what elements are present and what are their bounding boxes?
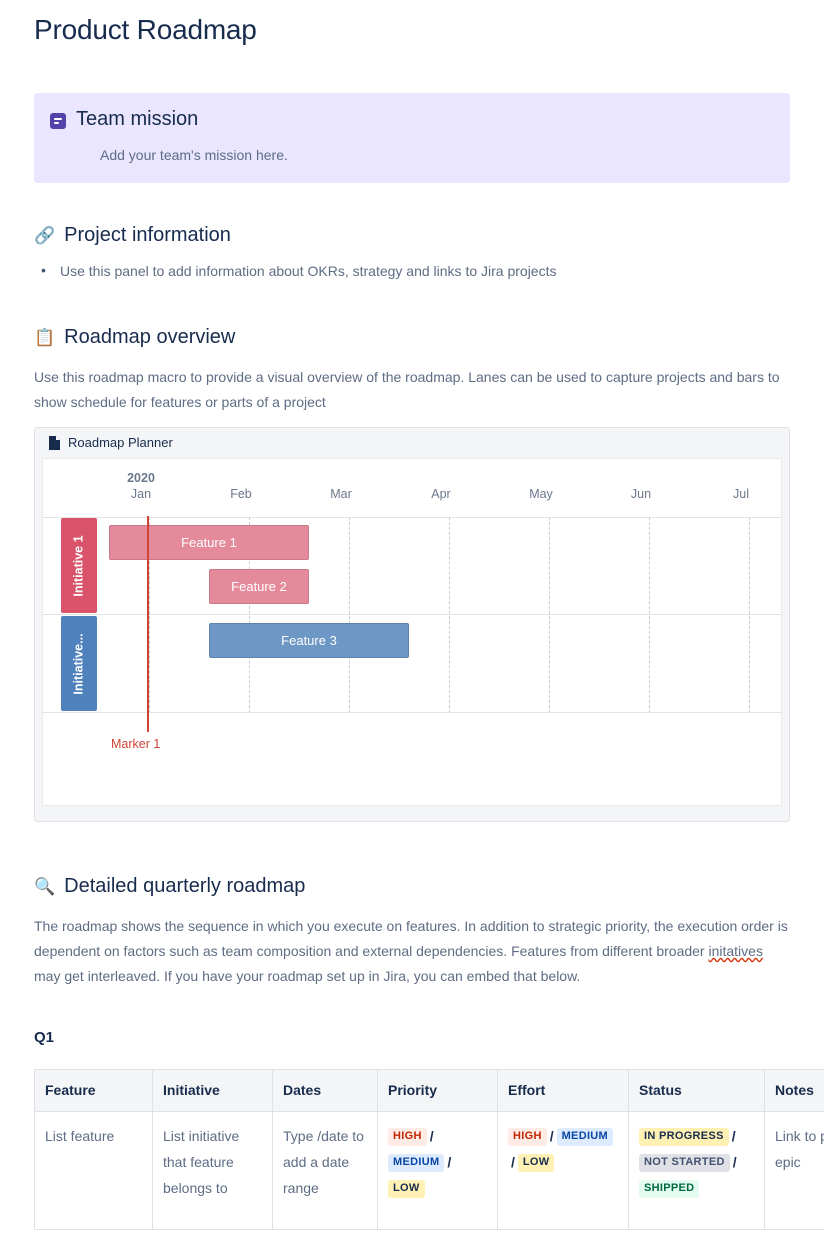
table-header-initiative: Initiative (153, 1070, 273, 1112)
roadmap-overview-heading: 📋 Roadmap overview (34, 325, 790, 349)
badge-separator: / (730, 1154, 740, 1170)
roadmap-bar-label: Feature 3 (281, 633, 337, 648)
table-header-dates: Dates (273, 1070, 378, 1112)
note-icon (50, 113, 66, 129)
badge-separator: / (729, 1128, 739, 1144)
roadmap-table: FeatureInitiativeDatesPriorityEffortStat… (34, 1069, 824, 1230)
timeline-month-may: May (501, 487, 581, 502)
magnifier-icon: 🔍 (34, 878, 55, 895)
cell-dates[interactable]: Type /date to add a date range (273, 1112, 378, 1230)
page-icon (49, 436, 60, 450)
page-title: Product Roadmap (34, 0, 790, 46)
macro-header: Roadmap Planner (35, 428, 789, 458)
timeline-month-jun: Jun (601, 487, 681, 502)
heading-label: Roadmap overview (64, 325, 235, 349)
clipboard-icon: 📋 (34, 329, 55, 346)
table-header-effort: Effort (498, 1070, 629, 1112)
heading-label: Detailed quarterly roadmap (64, 874, 305, 898)
macro-title: Roadmap Planner (68, 436, 173, 450)
section-roadmap-overview: 📋 Roadmap overview Use this roadmap macr… (34, 325, 790, 822)
status-badge[interactable]: LOW (388, 1180, 425, 1198)
project-information-list: Use this panel to add information about … (34, 261, 790, 281)
cell-notes[interactable]: Link to page or epic (765, 1112, 824, 1230)
cell-effort[interactable]: HIGH/MEDIUM/LOW (498, 1112, 629, 1230)
cell-priority[interactable]: HIGH/MEDIUM/LOW (378, 1112, 498, 1230)
panel-title: Team mission (76, 107, 774, 131)
detailed-roadmap-paragraph: The roadmap shows the sequence in which … (34, 914, 790, 989)
roadmap-bar[interactable]: Feature 1 (109, 525, 309, 560)
link-icon: 🔗 (34, 227, 55, 244)
timeline-chart: Initiative 1Initiative...Feature 1Featur… (43, 517, 781, 805)
table-header-row: FeatureInitiativeDatesPriorityEffortStat… (35, 1070, 824, 1112)
status-badge[interactable]: LOW (518, 1154, 555, 1172)
gridline (549, 517, 550, 713)
table-row: List featureList initiative that feature… (35, 1112, 824, 1230)
cell-status[interactable]: IN PROGRESS/NOT STARTED/SHIPPED (629, 1112, 765, 1230)
gridline (649, 517, 650, 713)
timeline-header: 2020JanFebMarAprMayJunJul (43, 459, 781, 517)
lane-divider (43, 517, 781, 518)
status-badge[interactable]: IN PROGRESS (639, 1128, 729, 1146)
timeline-year: 2020 (101, 471, 181, 486)
table-body: List featureList initiative that feature… (35, 1112, 824, 1230)
marker-label[interactable]: Marker 1 (111, 737, 160, 752)
badge-separator: / (444, 1154, 454, 1170)
roadmap-bar[interactable]: Feature 3 (209, 623, 409, 658)
misspelled-word: initatives (708, 943, 762, 959)
status-badge[interactable]: HIGH (388, 1128, 427, 1146)
roadmap-bar[interactable]: Feature 2 (209, 569, 309, 604)
timeline-month-feb: Feb (201, 487, 281, 502)
status-badge[interactable]: HIGH (508, 1128, 547, 1146)
list-item: Use this panel to add information about … (34, 261, 790, 281)
marker-line[interactable] (147, 516, 149, 732)
panel-body: Team mission Add your team's mission her… (76, 107, 774, 165)
roadmap-chart[interactable]: 2020JanFebMarAprMayJunJul Initiative 1In… (42, 458, 782, 806)
detailed-roadmap-heading: 🔍 Detailed quarterly roadmap (34, 874, 790, 898)
timeline-month-jan: Jan (101, 487, 181, 502)
lane-label-text: Initiative... (72, 633, 86, 694)
cell-initiative[interactable]: List initiative that feature belongs to (153, 1112, 273, 1230)
lane-label[interactable]: Initiative 1 (61, 518, 97, 613)
timeline-month-jul: Jul (701, 487, 781, 502)
gridline (349, 517, 350, 713)
section-project-information: 🔗 Project information Use this panel to … (34, 223, 790, 281)
table-header-feature: Feature (35, 1070, 153, 1112)
badge-separator: / (547, 1128, 557, 1144)
lane-divider (43, 614, 781, 615)
table-header-status: Status (629, 1070, 765, 1112)
heading-label: Project information (64, 223, 231, 247)
roadmap-table-wrapper: FeatureInitiativeDatesPriorityEffortStat… (34, 1069, 790, 1230)
gridline (449, 517, 450, 713)
panel-placeholder-text[interactable]: Add your team's mission here. (76, 145, 774, 165)
status-badge[interactable]: SHIPPED (639, 1180, 699, 1198)
cell-feature[interactable]: List feature (35, 1112, 153, 1230)
status-badge[interactable]: MEDIUM (388, 1154, 444, 1172)
table-header-priority: Priority (378, 1070, 498, 1112)
table-header-notes: Notes (765, 1070, 824, 1112)
status-badge[interactable]: MEDIUM (557, 1128, 613, 1146)
lane-label-text: Initiative 1 (72, 535, 86, 596)
quarter-label: Q1 (34, 1029, 790, 1047)
lane-divider (43, 712, 781, 713)
page-content: Product Roadmap Team mission Add your te… (0, 0, 824, 1230)
status-badge[interactable]: NOT STARTED (639, 1154, 730, 1172)
gridline (749, 517, 750, 713)
team-mission-panel: Team mission Add your team's mission her… (34, 93, 790, 183)
timeline-month-mar: Mar (301, 487, 381, 502)
paragraph-part-2: may get interleaved. If you have your ro… (34, 968, 580, 984)
badge-separator: / (508, 1154, 518, 1170)
roadmap-bar-label: Feature 2 (231, 579, 287, 594)
badge-separator: / (427, 1128, 437, 1144)
section-detailed-roadmap: 🔍 Detailed quarterly roadmap The roadmap… (34, 874, 790, 1230)
roadmap-overview-description: Use this roadmap macro to provide a visu… (34, 365, 790, 415)
roadmap-bar-label: Feature 1 (181, 535, 237, 550)
paragraph-part-1: The roadmap shows the sequence in which … (34, 918, 788, 959)
roadmap-planner-macro[interactable]: Roadmap Planner 2020JanFebMarAprMayJunJu… (34, 427, 790, 822)
project-information-heading: 🔗 Project information (34, 223, 790, 247)
lane-label[interactable]: Initiative... (61, 616, 97, 711)
timeline-month-apr: Apr (401, 487, 481, 502)
